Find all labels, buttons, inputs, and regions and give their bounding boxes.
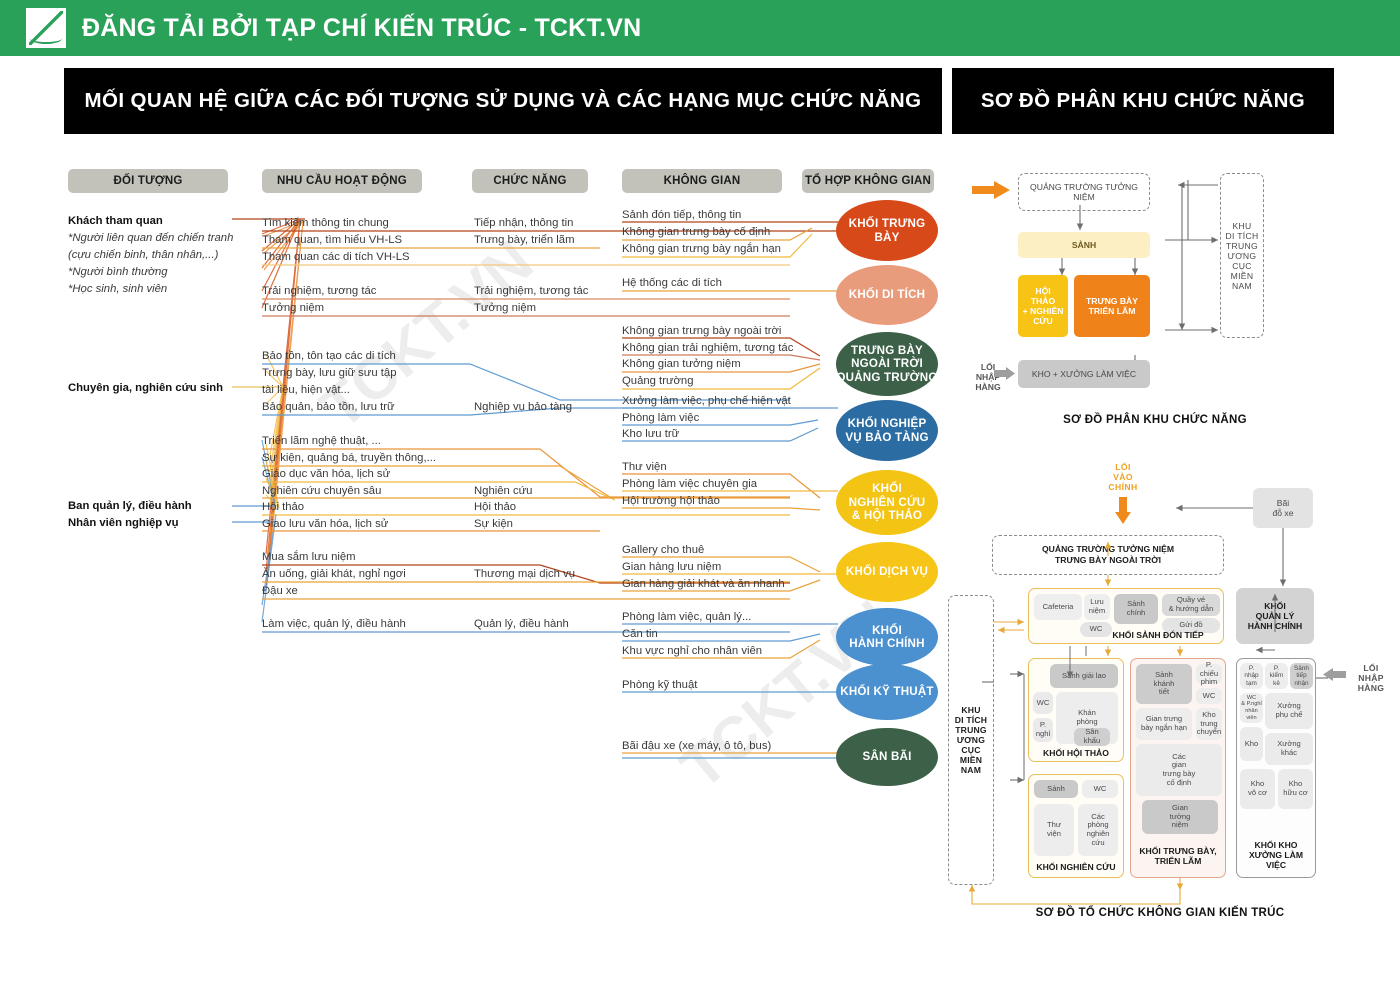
cluster-bubble-nghiep-vu[interactable]: KHỐI NGHIỆP VỤ BẢO TÀNG <box>836 400 938 461</box>
space-diagram-caption: SƠ ĐỒ TỔ CHỨC KHÔNG GIAN KIẾN TRÚC <box>990 907 1330 919</box>
cluster-bubble-dich-vu[interactable]: KHỐI DỊCH VỤ <box>836 542 938 602</box>
space-item: Gian hàng lưu niệm <box>622 561 721 574</box>
space-item: Phòng làm việc <box>622 412 699 425</box>
space-item: Sảnh đón tiếp, thông tin <box>622 209 741 222</box>
function-item: Quản lý, điều hành <box>474 618 569 631</box>
zone-box-storage[interactable]: KHO + XƯỞNG LÀM VIỆC <box>1018 360 1150 388</box>
function-item: Thương mại dịch vụ <box>474 568 575 581</box>
space-item: Phòng làm việc chuyên gia <box>622 478 757 491</box>
space-item: Không gian trải nghiệm, tương tác <box>622 342 793 355</box>
orange-right-arrow-icon <box>972 181 1012 199</box>
need-item: Giáo dục văn hóa, lịch sử <box>262 468 390 481</box>
actor-label: Khách tham quan <box>68 215 163 228</box>
actor-label: Chuyên gia, nghiên cứu sinh <box>68 382 223 395</box>
space-item: Không gian trưng bày cố định <box>622 226 770 239</box>
function-item: Nghiên cứu <box>474 485 532 498</box>
cluster-bubble-nghien-cuu[interactable]: KHỐI NGHIÊN CỨU & HỘI THẢO <box>836 470 938 535</box>
function-item: Hội thảo <box>474 501 516 514</box>
need-item: tài liệu, hiện vật... <box>262 384 350 397</box>
actor-label: Ban quản lý, điều hành <box>68 500 192 513</box>
actor-note: *Học sinh, sinh viên <box>68 283 167 296</box>
space-item: Xưởng làm việc, phụ chế hiện vật <box>622 395 791 408</box>
space-item: Gian hàng giải khát và ăn nhanh <box>622 578 785 591</box>
zone-box-plaza-label: QUẢNG TRƯỜNG TƯỞNG NIỆM <box>1019 182 1149 202</box>
zone-diagram-caption: SƠ ĐỒ PHÂN KHU CHỨC NĂNG <box>990 414 1320 426</box>
space-item: Căn tin <box>622 628 658 641</box>
right-diagrams: QUẢNG TRƯỜNG TƯỞNG NIỆM SẢNH HỘI THẢO + … <box>950 0 1400 990</box>
need-item: Tưởng niệm <box>262 302 324 315</box>
space-item: Hội trường hội thảo <box>622 495 720 508</box>
need-item: Sự kiện, quảng bá, truyền thông,... <box>262 452 436 465</box>
cluster-bubble-ngoai-troi[interactable]: TRƯNG BÀY NGOÀI TRỜI QUẢNG TRƯỜNG <box>836 332 938 396</box>
relationship-matrix: TCKT.VN TCKT.VN ĐỐI TƯỢNG NHU CẦU HOẠT Đ… <box>0 0 950 990</box>
need-item: Trải nghiệm, tương tác <box>262 285 376 298</box>
actor-note: *Người liên quan đến chiến tranh <box>68 232 233 245</box>
space-item: Kho lưu trữ <box>622 428 679 441</box>
cluster-bubble-trung-bay[interactable]: KHỐI TRƯNG BÀY <box>836 200 938 261</box>
need-item: Hội thảo <box>262 501 304 514</box>
cluster-bubble-hanh-chinh[interactable]: KHỐI HÀNH CHÍNH <box>836 608 938 666</box>
actor-note: *Người bình thường <box>68 266 168 279</box>
zone-box-plaza[interactable]: QUẢNG TRƯỜNG TƯỞNG NIỆM <box>1018 173 1150 211</box>
space-item: Quảng trường <box>622 375 694 388</box>
need-item: Đậu xe <box>262 585 298 598</box>
cluster-bubble-ky-thuat[interactable]: KHỐI KỸ THUẬT <box>836 664 938 720</box>
space-item: Phòng kỹ thuật <box>622 679 697 692</box>
need-item: Bảo quản, bảo tồn, lưu trữ <box>262 401 395 414</box>
function-item: Trải nghiệm, tương tác <box>474 285 588 298</box>
function-item: Sự kiện <box>474 518 513 531</box>
space-item: Bãi đậu xe (xe máy, ô tô, bus) <box>622 740 771 753</box>
function-item: Trưng bày, triển lãm <box>474 234 574 247</box>
space-item: Phòng làm việc, quản lý... <box>622 611 751 624</box>
need-item: Tìm kiếm thông tin chung <box>262 217 389 230</box>
space-diagram-arrows <box>950 460 1400 920</box>
need-item: Tham quan các di tích VH-LS <box>262 251 410 264</box>
need-item: Nghiên cứu chuyên sâu <box>262 485 381 498</box>
zone-box-relic[interactable]: KHU DI TÍCH TRUNG ƯƠNG CỤC MIỀN NAM <box>1220 173 1264 338</box>
zone-box-seminar-label: HỘI THẢO + NGHIÊN CỨU <box>1023 286 1064 326</box>
actor-label: Nhân viên nghiệp vụ <box>68 517 178 530</box>
need-item: Giao lưu văn hóa, lịch sử <box>262 518 388 531</box>
function-item: Tưởng niệm <box>474 302 536 315</box>
need-item: Ăn uống, giải khát, nghỉ ngơi <box>262 568 406 581</box>
space-item: Thư viện <box>622 461 667 474</box>
zone-box-relic-label: KHU DI TÍCH TRUNG ƯƠNG CỤC MIỀN NAM <box>1226 221 1259 291</box>
zone-box-exhibition-label: TRƯNG BÀY TRIỂN LÃM <box>1086 296 1138 316</box>
space-item: Không gian trưng bày ngắn hạn <box>622 243 781 256</box>
function-item: Nghiệp vụ bảo tàng <box>474 401 572 414</box>
space-item: Gallery cho thuê <box>622 544 704 557</box>
zone-box-exhibition[interactable]: TRƯNG BÀY TRIỂN LÃM <box>1074 275 1150 337</box>
space-item: Hệ thống các di tích <box>622 277 722 290</box>
function-item: Tiếp nhận, thông tin <box>474 217 573 230</box>
space-item: Khu vực nghỉ cho nhân viên <box>622 645 762 658</box>
need-item: Mua sắm lưu niệm <box>262 551 356 564</box>
cluster-bubble-di-tich[interactable]: KHỐI DI TÍCH <box>836 265 938 325</box>
actor-note: (cựu chiến binh, thân nhân,...) <box>68 249 218 262</box>
need-item: Làm việc, quản lý, điều hành <box>262 618 406 631</box>
zone-box-seminar[interactable]: HỘI THẢO + NGHIÊN CỨU <box>1018 275 1068 337</box>
zone-box-lobby-label: SẢNH <box>1072 240 1096 250</box>
need-item: Bảo tồn, tôn tạo các di tích <box>262 350 396 363</box>
need-item: Trưng bày, lưu giữ sưu tập <box>262 367 397 380</box>
zone-box-storage-label: KHO + XƯỞNG LÀM VIỆC <box>1032 369 1136 379</box>
zone-box-lobby[interactable]: SẢNH <box>1018 232 1150 258</box>
space-item: Không gian trưng bày ngoài trời <box>622 325 781 338</box>
need-item: Tham quan, tìm hiểu VH-LS <box>262 234 402 247</box>
space-item: Không gian tưởng niệm <box>622 358 741 371</box>
grey-right-arrow-icon <box>994 367 1016 380</box>
cluster-bubble-san-bai[interactable]: SÂN BÃI <box>836 728 938 786</box>
need-item: Triển lãm nghệ thuật, ... <box>262 435 381 448</box>
